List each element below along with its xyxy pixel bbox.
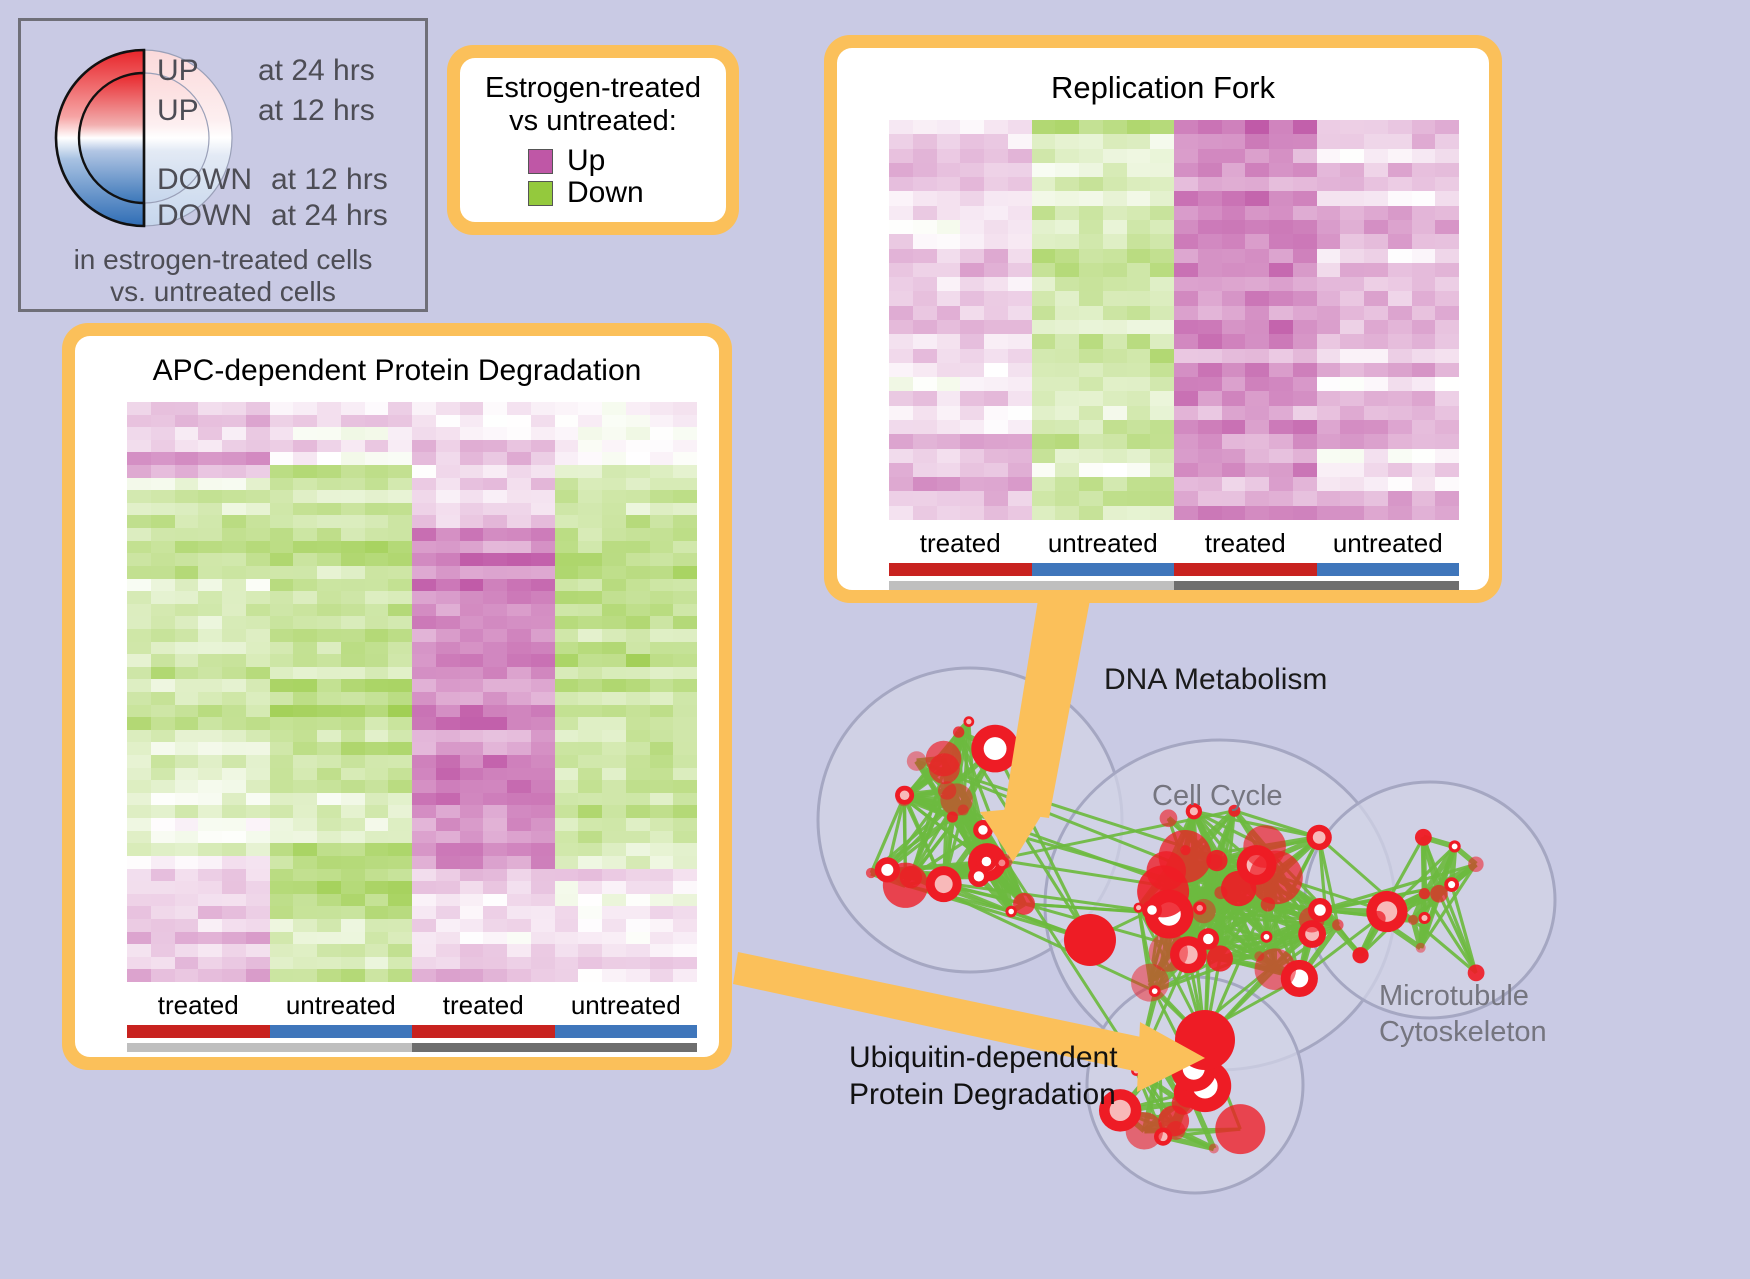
panel-title-apc: APC-dependent Protein Degradation xyxy=(75,354,719,388)
network-node xyxy=(1468,856,1484,872)
cluster-label-microtubule: Microtubule Cytoskeleton xyxy=(1379,978,1547,1051)
time-label-24: 24 hrs xyxy=(412,1055,697,1057)
time-color-bar xyxy=(127,1043,697,1052)
network-node xyxy=(998,854,1012,868)
ring-label-direction-0: UP xyxy=(157,54,199,88)
panel-replication-fork: Replication Fork treated untreated treat… xyxy=(824,35,1502,603)
ring-label-direction-2: DOWN xyxy=(157,163,252,197)
time-label-row: 12 hrs 24 hrs xyxy=(127,1055,697,1057)
network-node xyxy=(1416,943,1426,953)
time-seg-12 xyxy=(127,1043,412,1052)
column-legend-apc: treated untreated treated untreated 12 h… xyxy=(127,990,697,1057)
network-node xyxy=(1332,919,1343,930)
time-seg-24 xyxy=(412,1043,697,1052)
group-label-1: untreated xyxy=(270,990,413,1021)
figure-canvas: UP at 24 hrs UP at 12 hrs DOWN at 12 hrs… xyxy=(0,0,1750,1279)
network-node xyxy=(973,820,993,840)
cluster-label-cell-cycle: Cell Cycle xyxy=(1152,780,1283,813)
bar-seg-treated-12 xyxy=(889,563,1032,576)
key-label-up: Up xyxy=(567,146,605,176)
network-node xyxy=(926,866,962,902)
network-node xyxy=(1366,891,1407,932)
network-node xyxy=(1352,947,1368,963)
bar-seg-treated-24 xyxy=(412,1025,555,1038)
key-title-line2: vs untreated: xyxy=(470,105,716,138)
network-node xyxy=(1064,914,1116,966)
network-node xyxy=(1308,898,1332,922)
network-node xyxy=(1419,888,1430,899)
heatmap-apc-degradation xyxy=(127,402,697,982)
group-label-1: untreated xyxy=(1032,528,1175,559)
cluster-label-dna-metabolism: DNA Metabolism xyxy=(1104,663,1327,697)
ring-label-direction-1: UP xyxy=(157,94,199,128)
ring-legend-caption-1: in estrogen-treated cells xyxy=(21,243,425,277)
network-node xyxy=(1418,912,1430,924)
group-label-row: treated untreated treated untreated xyxy=(127,990,697,1021)
group-label-0: treated xyxy=(127,990,270,1021)
cluster-label-ubiquitin-line2: Protein Degradation xyxy=(849,1077,1118,1114)
group-label-2: treated xyxy=(1174,528,1317,559)
time-seg-24 xyxy=(1174,581,1459,590)
up-swatch-icon xyxy=(528,149,553,174)
network-node xyxy=(1154,1058,1165,1069)
ring-label-direction-3: DOWN xyxy=(157,199,252,233)
network-node xyxy=(1175,1010,1235,1070)
ring-label-time-3: at 24 hrs xyxy=(271,199,388,233)
group-label-3: untreated xyxy=(555,990,698,1021)
network-node xyxy=(1449,840,1461,852)
network-node xyxy=(976,852,996,872)
network-node xyxy=(964,716,975,727)
network-node xyxy=(1215,1104,1265,1154)
cluster-label-ubiquitin-line1: Ubiquitin-dependent xyxy=(849,1040,1118,1077)
network-node xyxy=(1415,829,1432,846)
network-node xyxy=(926,741,962,777)
bar-seg-untreated-12 xyxy=(270,1025,413,1038)
network-node xyxy=(1131,1066,1141,1076)
bar-seg-untreated-24 xyxy=(555,1025,698,1038)
bar-seg-untreated-24 xyxy=(1317,563,1460,576)
ring-label-time-0: at 24 hrs xyxy=(258,54,375,88)
network-node xyxy=(1149,985,1161,997)
network-node xyxy=(1013,893,1035,915)
network-node xyxy=(1146,851,1186,891)
ring-legend-caption-2: vs. untreated cells xyxy=(21,275,425,309)
panel-apc-degradation: APC-dependent Protein Degradation treate… xyxy=(62,323,732,1070)
network-node xyxy=(1207,854,1222,869)
bar-seg-treated-12 xyxy=(127,1025,270,1038)
down-swatch-icon xyxy=(528,181,553,206)
network-node xyxy=(1191,899,1215,923)
network-node xyxy=(1306,825,1331,850)
network-node xyxy=(971,725,1019,773)
network-node xyxy=(907,751,927,771)
network-node xyxy=(1255,948,1297,990)
key-item-up: Up xyxy=(528,146,716,176)
ring-label-time-2: at 12 hrs xyxy=(271,163,388,197)
treatment-color-bar xyxy=(889,563,1459,576)
column-legend-replication-fork: treated untreated treated untreated 12 h… xyxy=(889,528,1459,590)
time-color-bar xyxy=(889,581,1459,590)
ring-label-time-1: at 12 hrs xyxy=(258,94,375,128)
network-node xyxy=(1261,931,1273,943)
time-label-12: 12 hrs xyxy=(127,1055,412,1057)
bar-seg-untreated-12 xyxy=(1032,563,1175,576)
group-label-0: treated xyxy=(889,528,1032,559)
network-node xyxy=(1142,900,1162,920)
cluster-label-microtubule-line2: Cytoskeleton xyxy=(1379,1014,1547,1050)
network-node xyxy=(953,726,964,737)
network-node xyxy=(866,868,876,878)
cluster-label-microtubule-line1: Microtubule xyxy=(1379,978,1547,1014)
pathway-network-diagram xyxy=(800,610,1590,1270)
network-node xyxy=(940,783,973,816)
network-node xyxy=(895,786,914,805)
ring-legend-box: UP at 24 hrs UP at 12 hrs DOWN at 12 hrs… xyxy=(18,18,428,312)
network-node xyxy=(1444,877,1459,892)
network-node xyxy=(1209,1143,1219,1153)
key-label-down: Down xyxy=(567,178,644,208)
group-label-2: treated xyxy=(412,990,555,1021)
network-node xyxy=(1249,851,1303,905)
time-seg-12 xyxy=(889,581,1174,590)
network-node xyxy=(1408,915,1418,925)
network-node xyxy=(1371,911,1386,926)
group-label-row: treated untreated treated untreated xyxy=(889,528,1459,559)
treatment-color-bar xyxy=(127,1025,697,1038)
key-title-line1: Estrogen-treated xyxy=(470,72,716,105)
network-node xyxy=(1197,928,1219,950)
network-node xyxy=(875,857,900,882)
group-label-3: untreated xyxy=(1317,528,1460,559)
network-node xyxy=(1149,933,1188,972)
bar-seg-treated-24 xyxy=(1174,563,1317,576)
cluster-label-ubiquitin: Ubiquitin-dependent Protein Degradation xyxy=(849,1040,1118,1113)
network-node xyxy=(1214,886,1227,899)
up-down-key-card: Estrogen-treated vs untreated: Up Down xyxy=(447,45,739,235)
panel-title-replication-fork: Replication Fork xyxy=(837,70,1489,106)
heatmap-replication-fork xyxy=(889,120,1459,520)
network-node xyxy=(1180,845,1190,855)
key-item-down: Down xyxy=(528,178,716,208)
